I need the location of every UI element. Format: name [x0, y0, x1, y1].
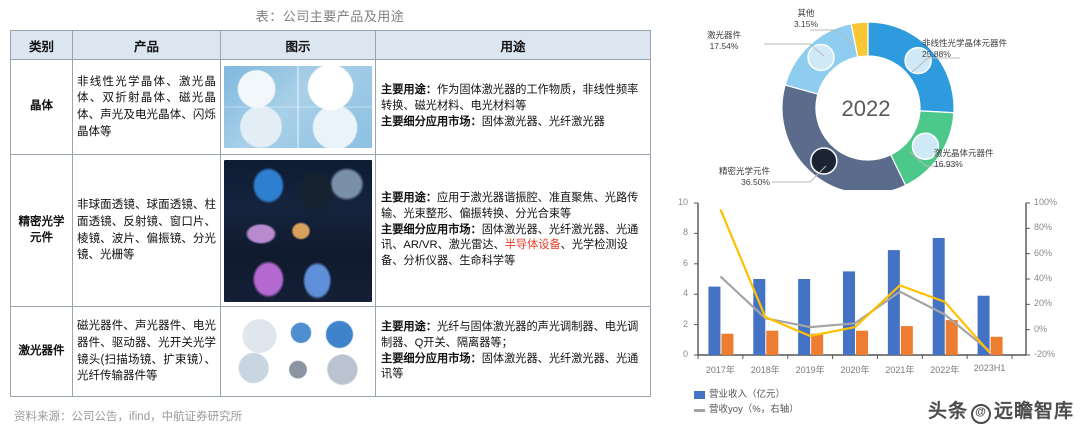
donut-label-precision-optics-text: 精密光学元件: [719, 166, 770, 176]
use-sub-label: 主要细分应用市场：: [381, 224, 482, 236]
donut-label-other-text: 其他: [797, 8, 814, 18]
cell-use: 主要用途：作为固体激光器的工作物质，非线性频率转换、磁光材料、电光材料等 主要细…: [376, 60, 651, 155]
cell-product: 非球面透镜、球面透镜、柱面透镜、反射镜、窗口片、棱镜、波片、偏振镜、分光镜、光栅…: [73, 155, 221, 307]
table-header-row: 类别 产品 图示 用途: [11, 31, 651, 60]
category-tick-label: 2019年: [786, 363, 834, 376]
legend-item-yoy-label: 营收yoy（%，右轴）: [709, 403, 799, 418]
donut-label-laser-devices-text: 激光器件: [707, 30, 741, 40]
legend-bar-swatch-icon: [694, 391, 705, 399]
donut-label-laser-devices: 激光器件 17.54%: [688, 30, 760, 51]
watermark-prefix: 头条: [928, 401, 968, 422]
bar-1-3: [856, 331, 868, 355]
column-header-image: 图示: [221, 31, 376, 60]
right-axis-tick-label: 0%: [1034, 324, 1068, 334]
donut-label-nonlinear-crystal-value: 25.88%: [922, 49, 1007, 60]
donut-label-laser-crystal: 激光晶体元器件 16.93%: [934, 148, 994, 169]
revenue-bar-chart: 0246810 -20%0%20%40%60%80%100% 2017年2018…: [660, 185, 1080, 430]
bar-0-5: [933, 238, 945, 355]
cell-image: [221, 307, 376, 397]
use-main-label: 主要用途：: [381, 321, 437, 333]
donut-label-laser-crystal-text: 激光晶体元器件: [934, 148, 994, 158]
cell-use: 主要用途：应用于激光器谐振腔、准直聚焦、光路传输、光束整形、偏振转换、分光合束等…: [376, 155, 651, 307]
watermark-at-icon: @: [971, 404, 991, 424]
category-tick-label: 2017年: [696, 363, 744, 376]
bar-0-3: [843, 271, 855, 355]
cell-image: [221, 60, 376, 155]
left-axis-tick-label: 4: [666, 288, 688, 298]
cell-category: 晶体: [11, 60, 73, 155]
left-axis-tick-label: 0: [666, 349, 688, 359]
legend-item-revenue: 营业收入（亿元）: [694, 388, 799, 403]
revenue-breakdown-donut: 2022 其他 3.15% 激光器件 17.54% 非线性光学晶体元器件 25.…: [660, 0, 1080, 190]
donut-slice-thumb-2: [811, 148, 837, 174]
use-sub-text: 固体激光器、光纤激光器: [482, 116, 605, 128]
category-tick-label: 2018年: [741, 363, 789, 376]
left-axis-tick-label: 8: [666, 227, 688, 237]
column-header-product: 产品: [73, 31, 221, 60]
bar-chart-svg: [660, 185, 1080, 385]
bar-1-5: [946, 320, 958, 355]
right-axis-tick-label: 40%: [1034, 273, 1068, 283]
donut-label-nonlinear-crystal: 非线性光学晶体元器件 25.88%: [922, 38, 1007, 59]
donut-center-year: 2022: [656, 96, 1076, 122]
cell-category: 精密光学元件: [11, 155, 73, 307]
bar-0-4: [888, 250, 900, 355]
left-axis-tick-label: 6: [666, 258, 688, 268]
bar-0-2: [798, 279, 810, 355]
donut-slice-thumb-3: [808, 44, 834, 70]
watermark: 头条@远瞻智库: [928, 396, 1074, 424]
donut-label-laser-devices-value: 17.54%: [688, 41, 760, 52]
crystal-samples-photo: [224, 66, 372, 148]
bar-1-6: [991, 337, 1003, 355]
slide-root: 表：公司主要产品及用途 类别 产品 图示 用途 晶体 非线性光学晶体、激光晶体、…: [0, 0, 1080, 430]
donut-label-laser-crystal-value: 16.93%: [934, 159, 994, 170]
bar-1-0: [721, 334, 733, 355]
product-table-panel: 表：公司主要产品及用途 类别 产品 图示 用途 晶体 非线性光学晶体、激光晶体、…: [0, 0, 660, 430]
left-axis-tick-label: 10: [666, 197, 688, 207]
laser-devices-photo: [224, 312, 372, 392]
bar-1-2: [811, 334, 823, 355]
table-row: 激光器件 磁光器件、声光器件、电光器件、驱动器、光开关光学镜头(扫描场镜、扩束镜…: [11, 307, 651, 397]
legend-line-swatch-icon: [694, 409, 705, 412]
cell-product: 非线性光学晶体、激光晶体、双折射晶体、磁光晶体、声光及电光晶体、闪烁晶体等: [73, 60, 221, 155]
watermark-suffix: 远瞻智库: [994, 401, 1074, 422]
table-row: 精密光学元件 非球面透镜、球面透镜、柱面透镜、反射镜、窗口片、棱镜、波片、偏振镜…: [11, 155, 651, 307]
donut-svg: [660, 0, 1080, 190]
use-main-label: 主要用途：: [381, 84, 437, 96]
table-row: 晶体 非线性光学晶体、激光晶体、双折射晶体、磁光晶体、声光及电光晶体、闪烁晶体等…: [11, 60, 651, 155]
table-title: 表：公司主要产品及用途: [0, 6, 660, 25]
category-tick-label: 2020年: [831, 363, 879, 376]
table-source: 资料来源：公司公告，ifind，中航证券研究所: [14, 408, 242, 424]
left-axis-tick-label: 2: [666, 319, 688, 329]
product-table: 类别 产品 图示 用途 晶体 非线性光学晶体、激光晶体、双折射晶体、磁光晶体、声…: [10, 30, 651, 397]
bar-chart-legend: 营业收入（亿元） 营收yoy（%，右轴）: [694, 388, 799, 417]
donut-label-other: 其他 3.15%: [782, 8, 830, 29]
use-sub-label: 主要细分应用市场：: [381, 353, 482, 365]
category-tick-label: 2021年: [876, 363, 924, 376]
category-tick-label: 2023H1: [966, 363, 1014, 373]
category-tick-label: 2022年: [921, 363, 969, 376]
column-header-category: 类别: [11, 31, 73, 60]
use-sub-label: 主要细分应用市场：: [381, 116, 482, 128]
right-axis-tick-label: 100%: [1034, 197, 1068, 207]
use-sub-highlight: 半导体设备: [505, 239, 561, 251]
cell-category: 激光器件: [11, 307, 73, 397]
donut-label-nonlinear-crystal-text: 非线性光学晶体元器件: [922, 38, 1007, 48]
use-main-label: 主要用途：: [381, 192, 437, 204]
cell-image: [221, 155, 376, 307]
legend-item-revenue-label: 营业收入（亿元）: [709, 388, 785, 403]
precision-optics-photo: [224, 160, 372, 302]
right-axis-tick-label: 60%: [1034, 248, 1068, 258]
right-axis-tick-label: 80%: [1034, 222, 1068, 232]
cell-use: 主要用途：光纤与固体激光器的声光调制器、电光调制器、Q开关、隔离器等； 主要细分…: [376, 307, 651, 397]
column-header-use: 用途: [376, 31, 651, 60]
cell-product: 磁光器件、声光器件、电光器件、驱动器、光开关光学镜头(扫描场镜、扩束镜）、光纤传…: [73, 307, 221, 397]
charts-panel: 2022 其他 3.15% 激光器件 17.54% 非线性光学晶体元器件 25.…: [660, 0, 1080, 430]
bar-0-0: [708, 287, 720, 355]
right-axis-tick-label: -20%: [1034, 349, 1068, 359]
bar-1-1: [766, 331, 778, 355]
legend-item-yoy: 营收yoy（%，右轴）: [694, 403, 799, 418]
right-axis-tick-label: 20%: [1034, 298, 1068, 308]
bar-1-4: [901, 326, 913, 355]
donut-label-other-value: 3.15%: [782, 19, 830, 30]
